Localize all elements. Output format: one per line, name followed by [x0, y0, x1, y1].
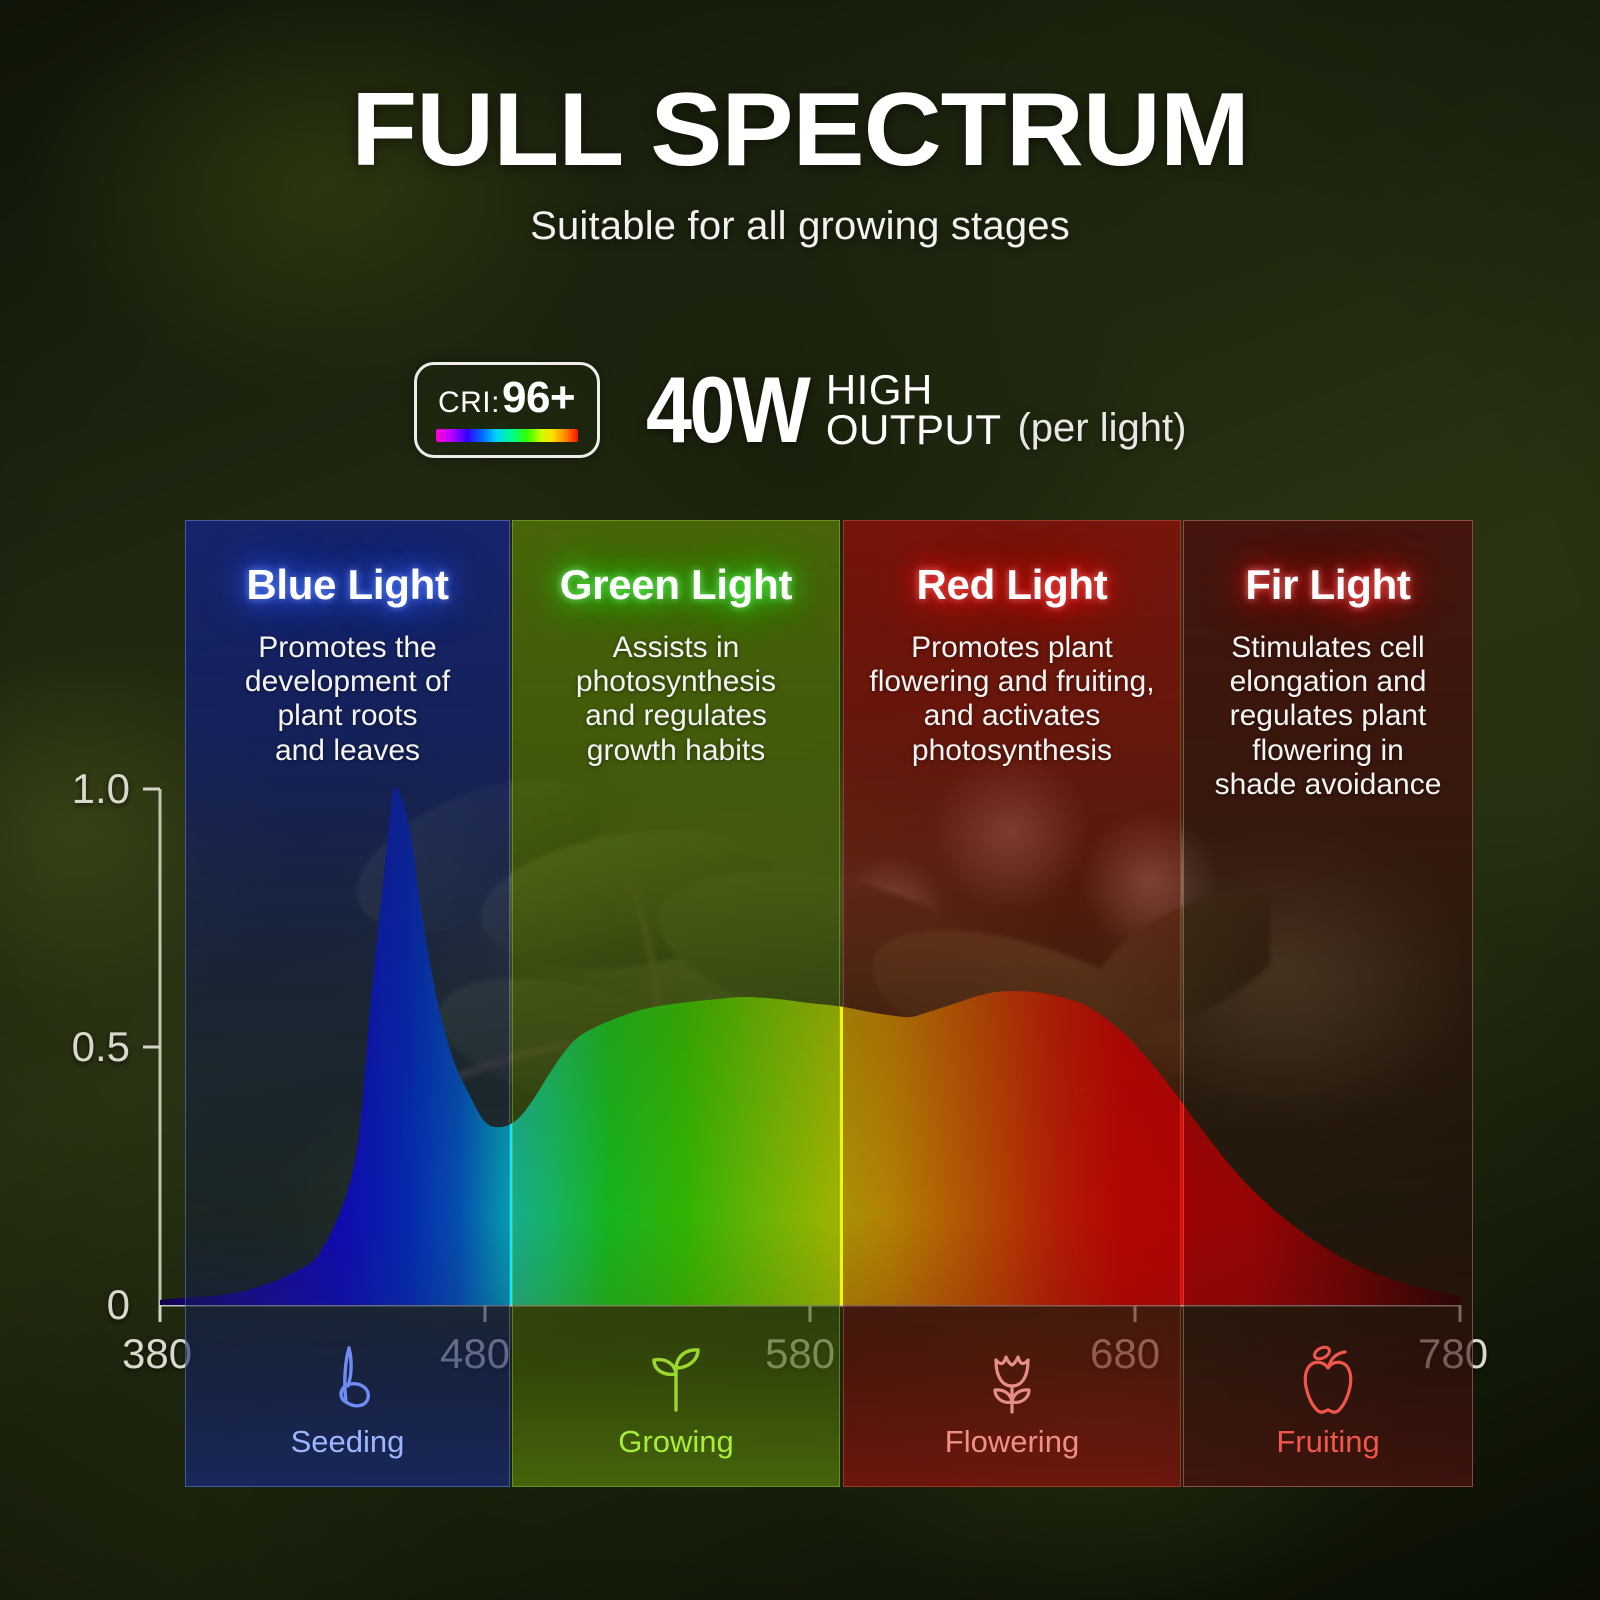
y-tick-label-1: 1.0: [20, 765, 130, 813]
stage-growing-label: Growing: [618, 1424, 733, 1460]
panel-red-description: Promotes plant flowering and fruiting, a…: [844, 631, 1180, 768]
panel-red-light[interactable]: Red Light Promotes plant flowering and f…: [843, 520, 1181, 1487]
y-tick-label-0: 0: [20, 1281, 130, 1329]
wattage-caption-line1: HIGH: [826, 370, 1002, 410]
wattage-note: (per light): [1017, 406, 1186, 451]
y-tick-label-0_5: 0.5: [20, 1023, 130, 1071]
stage-growing: Growing: [513, 1340, 839, 1460]
panel-green-description: Assists in photosynthesis and regulates …: [513, 631, 839, 768]
spec-row: CRI: 96+ 40W HIGH OUTPUT (per light): [0, 362, 1600, 458]
wattage-value: 40W: [646, 367, 808, 453]
stage-flowering-label: Flowering: [945, 1424, 1079, 1460]
stage-seeding: Seeding: [186, 1340, 509, 1460]
panel-green-title: Green Light: [513, 561, 839, 609]
cri-value: 96+: [502, 376, 575, 420]
apple-fruit-icon: [1295, 1340, 1361, 1418]
x-tick-label-380: 380: [122, 1330, 192, 1378]
panel-blue-title: Blue Light: [186, 561, 509, 609]
wattage-caption-line2: OUTPUT: [826, 410, 1002, 450]
panel-green-light[interactable]: Green Light Assists in photosynthesis an…: [512, 520, 840, 1487]
panel-fir-description: Stimulates cell elongation and regulates…: [1184, 631, 1472, 802]
page-subtitle: Suitable for all growing stages: [0, 204, 1600, 249]
stage-flowering: Flowering: [844, 1340, 1180, 1460]
page-title: FULL SPECTRUM: [0, 78, 1600, 182]
wattage-caption: HIGH OUTPUT: [826, 370, 1002, 451]
stage-fruiting: Fruiting: [1184, 1340, 1472, 1460]
wattage-group: 40W HIGH OUTPUT (per light): [646, 367, 1187, 453]
cri-badge: CRI: 96+: [414, 362, 600, 458]
panel-blue-light[interactable]: Blue Light Promotes the development of p…: [185, 520, 510, 1487]
cri-label: CRI:: [438, 388, 500, 418]
header: FULL SPECTRUM Suitable for all growing s…: [0, 78, 1600, 249]
panel-fir-title: Fir Light: [1184, 561, 1472, 609]
cri-text: CRI: 96+: [438, 376, 575, 420]
sprouting-seed-icon: [316, 1340, 380, 1418]
rainbow-spectrum-bar-icon: [436, 429, 578, 442]
stage-fruiting-label: Fruiting: [1276, 1424, 1379, 1460]
stage-seeding-label: Seeding: [291, 1424, 405, 1460]
panel-blue-description: Promotes the development of plant roots …: [186, 631, 509, 768]
seedling-sprout-icon: [644, 1340, 708, 1418]
tulip-flower-icon: [979, 1340, 1045, 1418]
panel-fir-light[interactable]: Fir Light Stimulates cell elongation and…: [1183, 520, 1473, 1487]
panel-red-title: Red Light: [844, 561, 1180, 609]
